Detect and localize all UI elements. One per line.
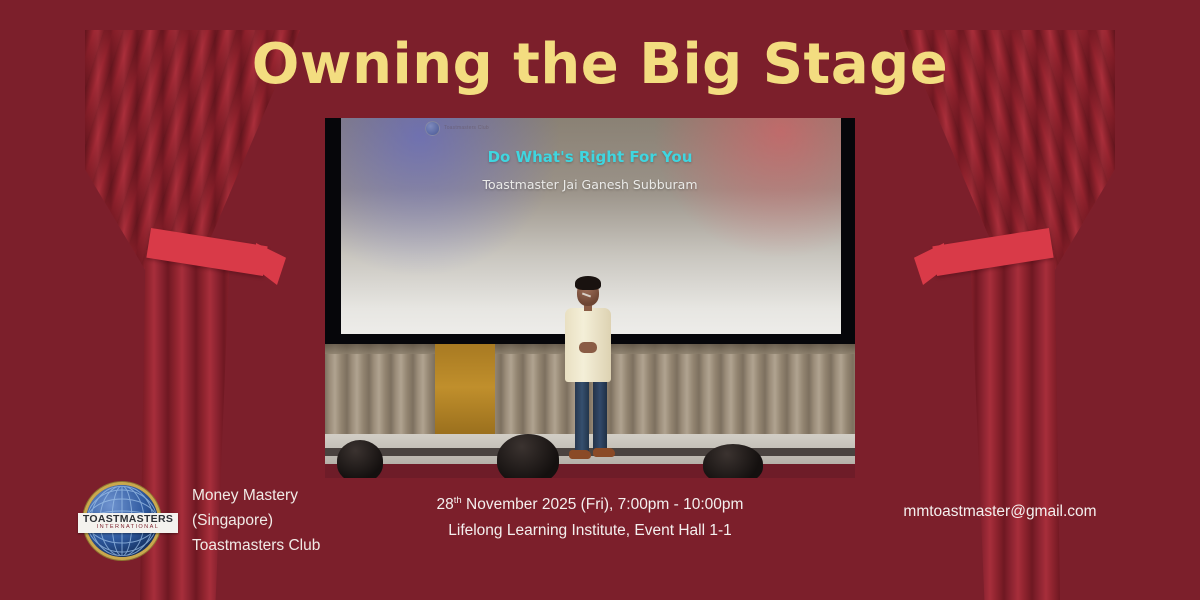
event-day: 28	[437, 496, 454, 513]
event-datetime: 28th November 2025 (Fri), 7:00pm - 10:00…	[330, 492, 850, 518]
wordmark-line-1: TOASTMASTERS	[83, 514, 173, 525]
speaker-leg-right	[593, 376, 607, 454]
slide-corner-logo-label: Toastmasters Club	[444, 125, 489, 131]
event-day-ordinal: th	[454, 495, 462, 506]
event-details: 28th November 2025 (Fri), 7:00pm - 10:00…	[330, 492, 850, 543]
audience-head	[703, 444, 763, 478]
slide-corner-globe-icon	[425, 121, 440, 136]
audience-head	[337, 440, 383, 478]
slide-headline: Do What's Right For You	[325, 148, 855, 166]
slide-speaker-name: Toastmaster Jai Ganesh Subburam	[325, 177, 855, 192]
speaker-hands	[579, 342, 597, 353]
curtain-left-tieback-tip	[256, 243, 286, 285]
screen-border-right	[841, 118, 855, 340]
speaker-shoe-left	[569, 450, 591, 459]
speaker-leg-left	[575, 376, 589, 454]
toastmasters-logo: TOASTMASTERS INTERNATIONAL	[78, 485, 178, 557]
speaker-photo: Toastmasters Club Do What's Right For Yo…	[325, 118, 855, 478]
curtain-right-tail	[970, 250, 1060, 600]
wordmark-line-2: INTERNATIONAL	[97, 524, 160, 531]
speaker-shoe-right	[593, 448, 615, 457]
stage-skirt	[325, 464, 855, 478]
speaker-hair	[575, 276, 601, 290]
slide-corner-logo: Toastmasters Club	[425, 120, 535, 136]
audience-head	[497, 434, 559, 478]
club-name-line-2: (Singapore)	[192, 508, 320, 533]
event-banner: Owning the Big Stage Toastmasters Club D…	[0, 0, 1200, 600]
club-identity: TOASTMASTERS INTERNATIONAL Money Mastery…	[78, 483, 320, 558]
club-name-line-3: Toastmasters Club	[192, 533, 320, 558]
toastmasters-wordmark: TOASTMASTERS INTERNATIONAL	[78, 513, 178, 533]
contact-email[interactable]: mmtoastmaster@gmail.com	[830, 503, 1170, 521]
event-title: Owning the Big Stage	[0, 36, 1200, 95]
screen-border-left	[325, 118, 341, 340]
event-venue: Lifelong Learning Institute, Event Hall …	[330, 518, 850, 544]
event-date-rest: November 2025 (Fri), 7:00pm - 10:00pm	[462, 496, 744, 513]
curtain-right-tieback-tip	[914, 243, 944, 285]
curtain-left-tieback	[146, 228, 267, 276]
curtain-right-tieback	[932, 228, 1053, 276]
club-name-line-1: Money Mastery	[192, 483, 320, 508]
club-name: Money Mastery (Singapore) Toastmasters C…	[192, 483, 320, 558]
